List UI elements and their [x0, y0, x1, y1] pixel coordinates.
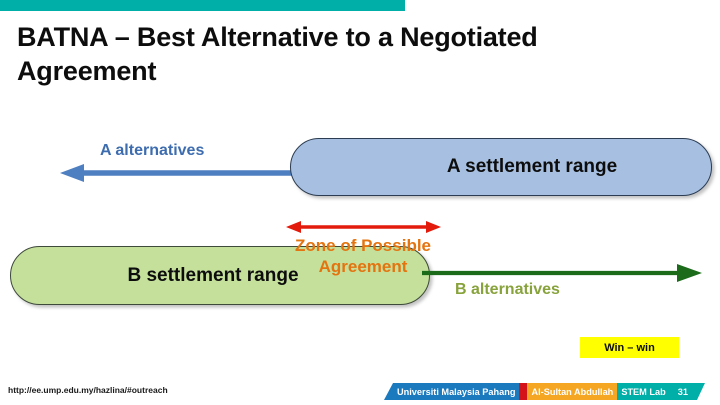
win-win-label: Win – win [604, 342, 655, 354]
footer-banner-lead-shape [384, 383, 393, 400]
footer-url[interactable]: http://ee.ump.edu.my/hazlina/#outreach [8, 385, 168, 395]
page-title: BATNA – Best Alternative to a Negotiated… [17, 20, 617, 88]
footer-banner-red-segment [519, 383, 527, 400]
footer-banner-sultan-segment: Al-Sultan Abdullah [527, 383, 617, 400]
zopa-label-line1: Zone of Possible [268, 236, 458, 257]
zopa-double-arrow-icon [286, 219, 441, 235]
page-number: 31 [670, 383, 697, 400]
a-alternatives-label: A alternatives [100, 142, 204, 160]
slide-canvas: BATNA – Best Alternative to a Negotiated… [0, 0, 720, 405]
top-accent-bar [0, 0, 405, 11]
footer-banner: Universiti Malaysia Pahang Al-Sultan Abd… [384, 383, 705, 400]
win-win-callout: Win – win [580, 337, 679, 358]
b-alternatives-arrow-icon [422, 263, 702, 283]
footer-banner-university-segment: Universiti Malaysia Pahang [393, 383, 519, 400]
footer-banner-tail-shape [697, 383, 705, 400]
a-settlement-range-shape: A settlement range [290, 138, 712, 196]
a-settlement-range-label: A settlement range [447, 156, 617, 178]
footer-banner-stemlab-segment: STEM Lab [617, 383, 669, 400]
b-alternatives-label: B alternatives [455, 281, 560, 299]
a-alternatives-arrow-icon [60, 163, 295, 183]
